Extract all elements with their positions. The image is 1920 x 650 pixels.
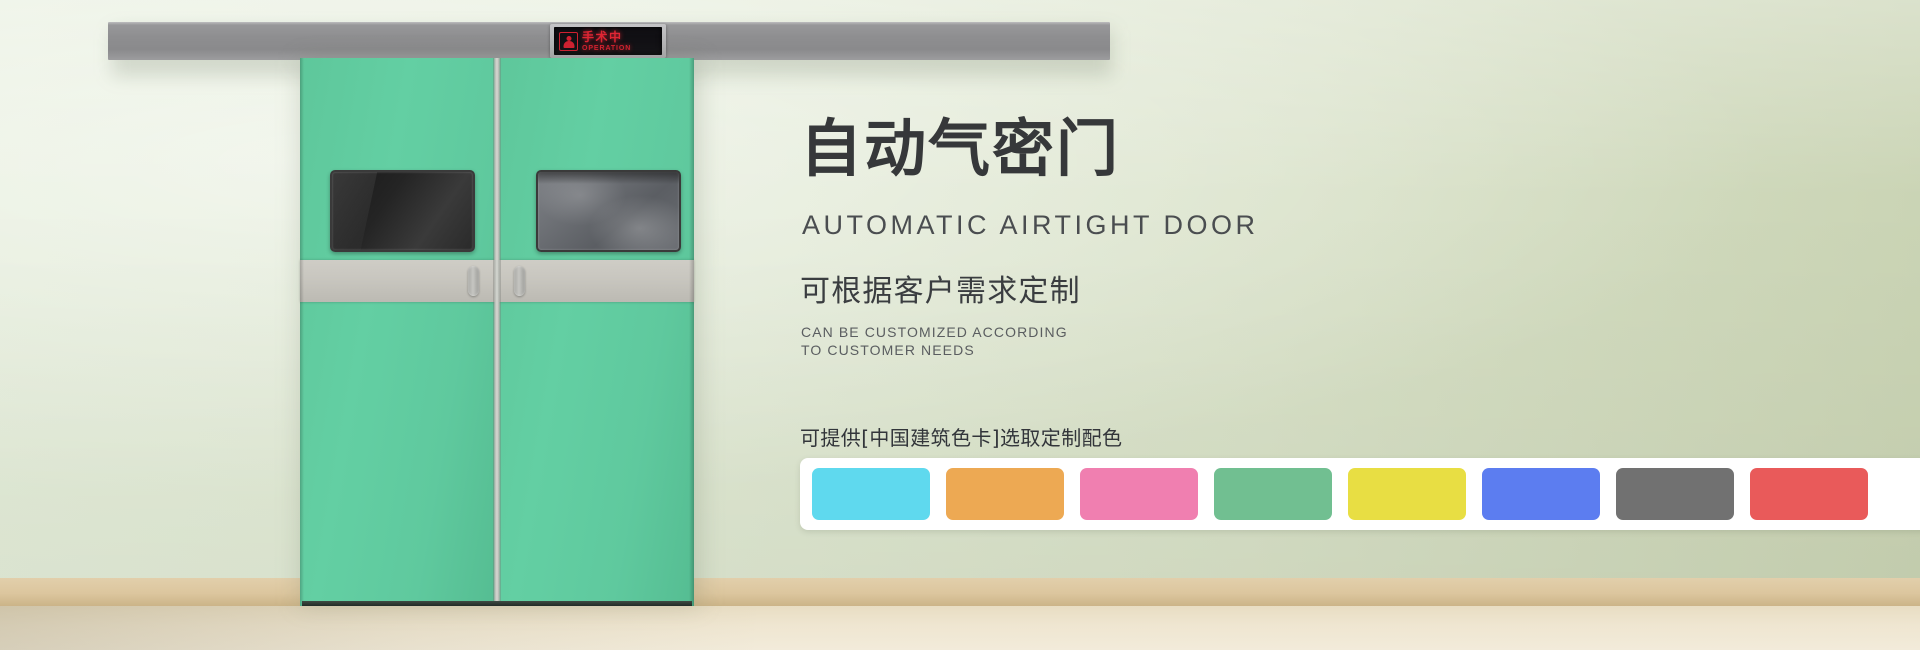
door-leaf-right xyxy=(498,58,694,606)
subtitle-english-line2: TO CUSTOMER NEEDS xyxy=(801,342,975,358)
operation-sign-label-cn: 手术中 xyxy=(582,31,631,43)
color-swatch-gray[interactable] xyxy=(1616,468,1734,520)
door-edge-left xyxy=(300,58,304,606)
operation-sign: 手术中 OPERATION xyxy=(550,24,666,58)
operation-sign-face: 手术中 OPERATION xyxy=(554,27,662,55)
color-swatch-cyan[interactable] xyxy=(812,468,930,520)
color-swatch-bar xyxy=(800,458,1920,530)
subtitle-english-line1: CAN BE CUSTOMIZED ACCORDING xyxy=(801,324,1068,340)
product-banner: 手术中 OPERATION 自动气密门 AUTOMATIC AIRTIGHT D… xyxy=(0,0,1920,650)
color-swatch-blue[interactable] xyxy=(1482,468,1600,520)
subtitle: 可根据客户需求定制 xyxy=(800,277,1081,307)
door-leaf-left xyxy=(300,58,496,606)
operation-sign-text: 手术中 OPERATION xyxy=(582,31,631,52)
color-swatch-green[interactable] xyxy=(1214,468,1332,520)
door-window-left xyxy=(330,170,475,252)
door-bottom-edge xyxy=(302,601,692,606)
page-title-english: AUTOMATIC AIRTIGHT DOOR xyxy=(802,212,1259,239)
page-title: 自动气密门 xyxy=(800,118,1120,180)
door-center-seam xyxy=(493,58,501,606)
floor-shadow xyxy=(0,606,760,650)
surgery-icon xyxy=(559,32,578,51)
door-window-right xyxy=(536,170,681,252)
color-swatch-red[interactable] xyxy=(1750,468,1868,520)
door-handle-right[interactable] xyxy=(514,266,525,296)
door-handle-left[interactable] xyxy=(468,266,479,296)
color-swatch-yellow[interactable] xyxy=(1348,468,1466,520)
text-panel: 自动气密门 AUTOMATIC AIRTIGHT DOOR 可根据客户需求定制 … xyxy=(800,0,1920,650)
door-edge-right xyxy=(689,58,694,606)
color-swatch-pink[interactable] xyxy=(1080,468,1198,520)
color-swatch-orange[interactable] xyxy=(946,468,1064,520)
color-card-label: 可提供[中国建筑色卡]选取定制配色 xyxy=(800,428,1122,448)
airtight-door xyxy=(300,58,694,606)
operation-sign-label-en: OPERATION xyxy=(582,45,631,52)
subtitle-english: CAN BE CUSTOMIZED ACCORDING TO CUSTOMER … xyxy=(801,324,1068,359)
